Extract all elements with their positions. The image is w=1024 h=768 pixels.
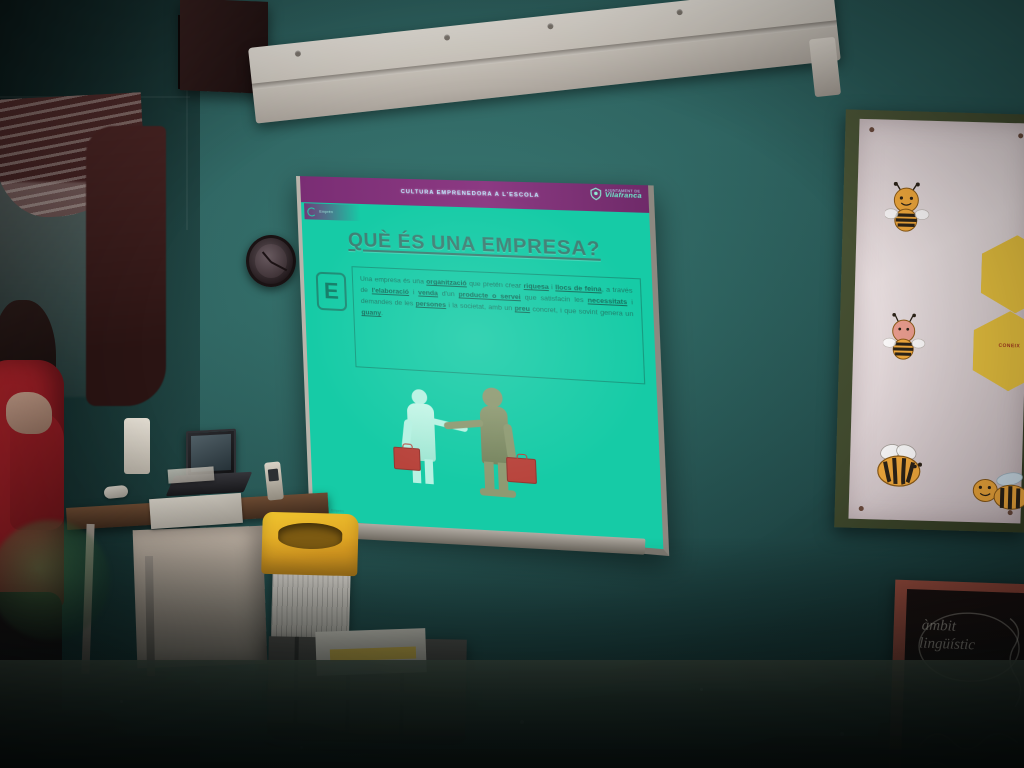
pin <box>869 127 874 132</box>
housing-bolt <box>547 23 554 30</box>
projector-screen-housing[interactable] <box>248 0 841 124</box>
bee-icon <box>970 470 1024 521</box>
definition-text: Una empresa és una organització que pret… <box>351 266 645 384</box>
floor <box>0 660 1024 768</box>
definition-text-run: que pretén crear <box>467 280 524 290</box>
hexagon-label: CONEIX <box>973 342 1024 350</box>
wall-clock <box>246 235 296 287</box>
letter-e-badge: E <box>316 272 348 312</box>
municipality-logo: AJUNTAMENT DE Vilafranca <box>588 187 642 202</box>
person-hand <box>6 392 52 434</box>
definition-text-run: d'un <box>438 290 459 298</box>
definition-keyword: preu <box>515 305 531 313</box>
definition-text-run: i la societat, amb un <box>446 302 515 313</box>
logo-line-2: Vilafranca <box>605 193 642 201</box>
definition-text-run: Una empresa és una <box>360 276 426 286</box>
definition-keyword: venda <box>418 289 438 297</box>
definition-keyword: organització <box>426 278 467 287</box>
briefcase-icon <box>506 457 537 484</box>
bee-icon <box>884 182 936 240</box>
slide-banner-text: CULTURA EMPRENEDORA A L'ESCOLA <box>401 189 540 199</box>
definition-keyword: riquesa <box>523 283 549 291</box>
classroom-scene: CULTURA EMPRENEDORA A L'ESCOLA AJUNTAMEN… <box>0 0 1024 768</box>
definition-keyword: necessitats <box>587 297 627 306</box>
shield-icon <box>588 187 603 201</box>
definition-text-run: . <box>381 310 383 317</box>
housing-bolt <box>676 9 683 16</box>
curtain-dark-panel <box>86 126 166 406</box>
slide-corner-logo: Emprèn <box>304 203 361 221</box>
handshake-illustration <box>368 380 600 520</box>
bottle <box>124 418 150 474</box>
footer-logo-text: Emprèn <box>331 508 344 513</box>
slide-title: QUÈ ÉS UNA EMPRESA? <box>302 228 651 264</box>
definition-keyword: producte o servei <box>458 291 520 301</box>
telephone[interactable] <box>264 461 284 500</box>
corner-logo-text: Emprèn <box>319 210 333 214</box>
pin <box>1018 133 1023 138</box>
bulletin-board: CONEIX <box>834 109 1024 532</box>
board-paper: CONEIX <box>848 119 1024 524</box>
honeycomb-hexagon <box>980 234 1024 314</box>
housing-bolt <box>444 34 451 41</box>
definition-keyword: persones <box>415 300 446 309</box>
desk-paper <box>149 493 243 529</box>
bag-opening <box>278 522 343 550</box>
housing-bolt <box>295 50 302 57</box>
honeycomb-hexagon: CONEIX <box>972 310 1024 392</box>
bee-icon <box>883 312 933 370</box>
definition-keyword: llocs de feina <box>555 284 602 293</box>
projection-screen[interactable]: CULTURA EMPRENEDORA A L'ESCOLA AJUNTAMEN… <box>296 176 669 556</box>
pin <box>859 506 864 511</box>
definition-text-run: concret, i que sovint genera un <box>530 306 634 318</box>
definition-keyword: guany <box>361 309 381 317</box>
bee-icon <box>871 441 929 498</box>
ring-icon <box>307 207 316 216</box>
briefcase-icon <box>393 447 421 471</box>
definition-text-run: que satisfacin les <box>521 294 588 304</box>
definition-keyword: l'elaboració <box>372 287 410 296</box>
bin-liner-bag <box>261 512 359 576</box>
slide: CULTURA EMPRENEDORA A L'ESCOLA AJUNTAMEN… <box>300 176 663 549</box>
slide-title-text: QUÈ ÉS UNA EMPRESA? <box>348 230 601 261</box>
